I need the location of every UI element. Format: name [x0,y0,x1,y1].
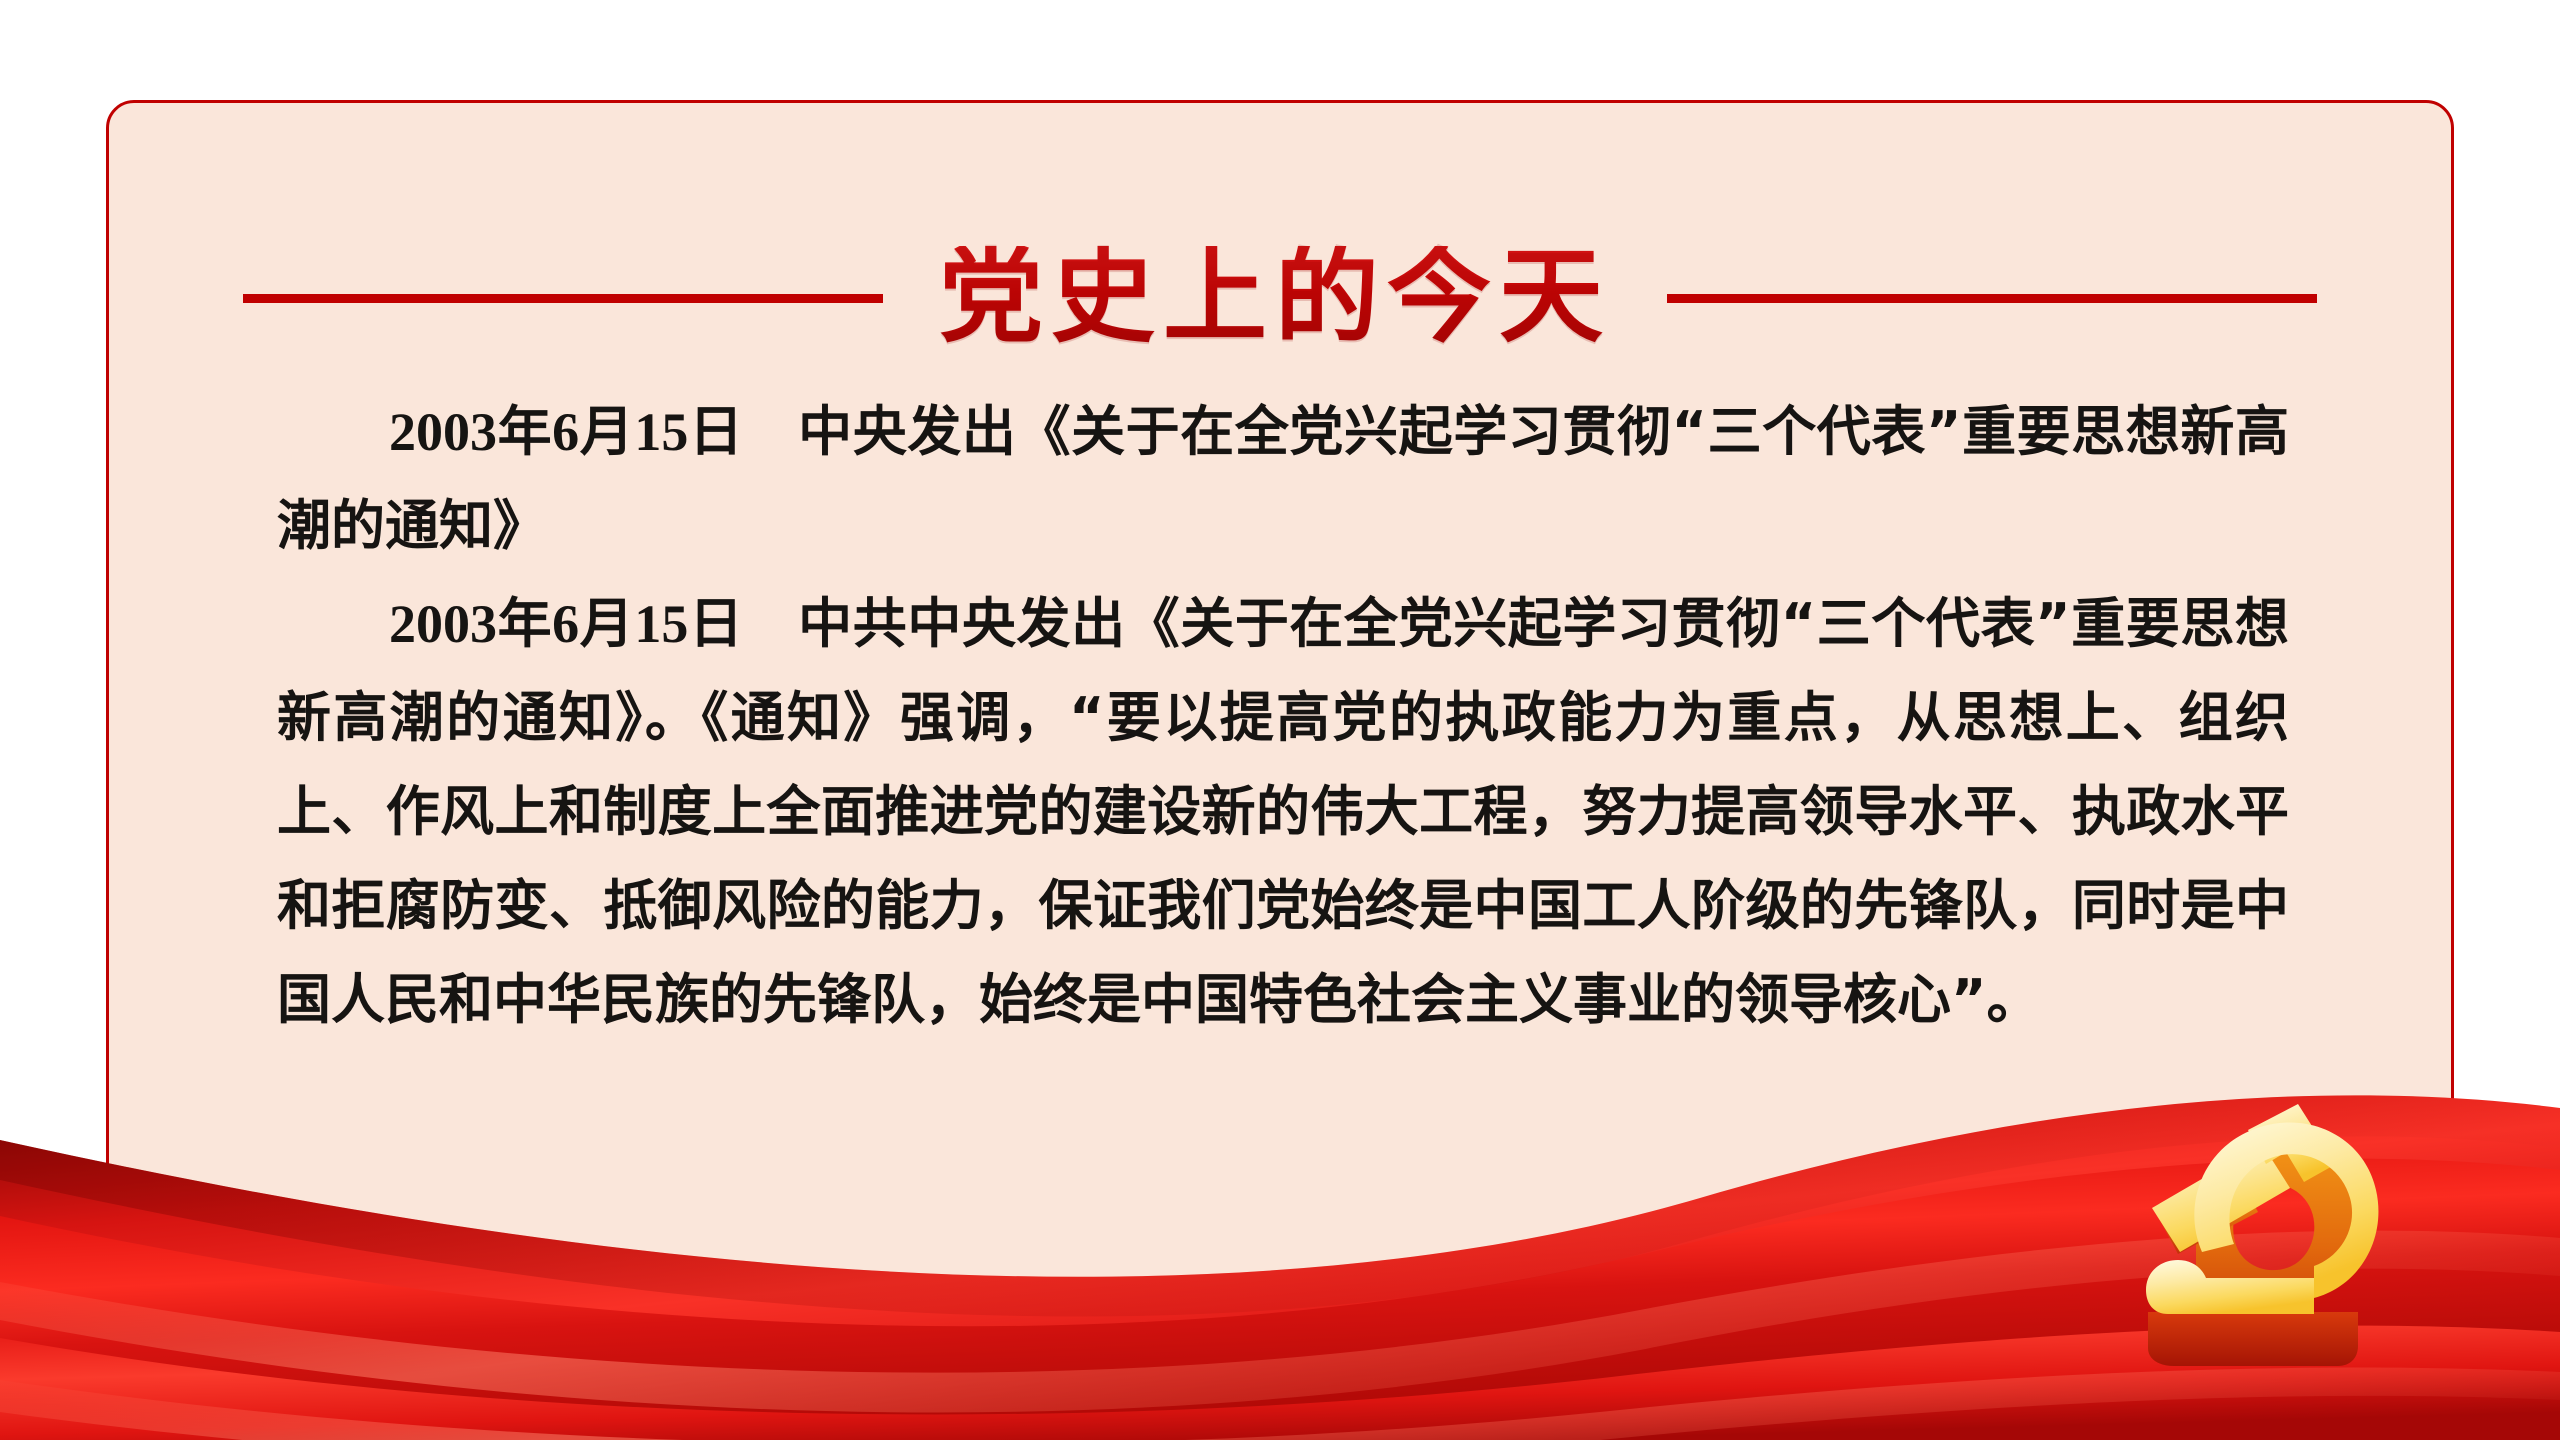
poster-canvas: 党史上的今天 2003年6月15日 中央发出《关于在全党兴起学习贯彻“三个代表”… [0,0,2560,1440]
title-banner: 党史上的今天 [109,223,2451,373]
entry-paragraph-2: 2003年6月15日 中共中央发出《关于在全党兴起学习贯彻“三个代表”重要思想新… [277,577,2289,1047]
page-title: 党史上的今天 [939,246,1611,350]
entry-date-2: 2003年6月15日 [389,594,744,654]
title-rule-right-icon [1667,294,2317,303]
entry-paragraph-1: 2003年6月15日 中央发出《关于在全党兴起学习贯彻“三个代表”重要思想新高潮… [277,385,2289,573]
title-rule-left-icon [243,294,883,303]
cpc-hammer-sickle-emblem [2090,1090,2450,1420]
entry-date-1: 2003年6月15日 [389,402,744,462]
entry-text-2: 中共中央发出《关于在全党兴起学习贯彻“三个代表”重要思想新高潮的通知》。《通知》… [277,592,2289,1031]
article-body: 2003年6月15日 中央发出《关于在全党兴起学习贯彻“三个代表”重要思想新高潮… [277,385,2289,1051]
